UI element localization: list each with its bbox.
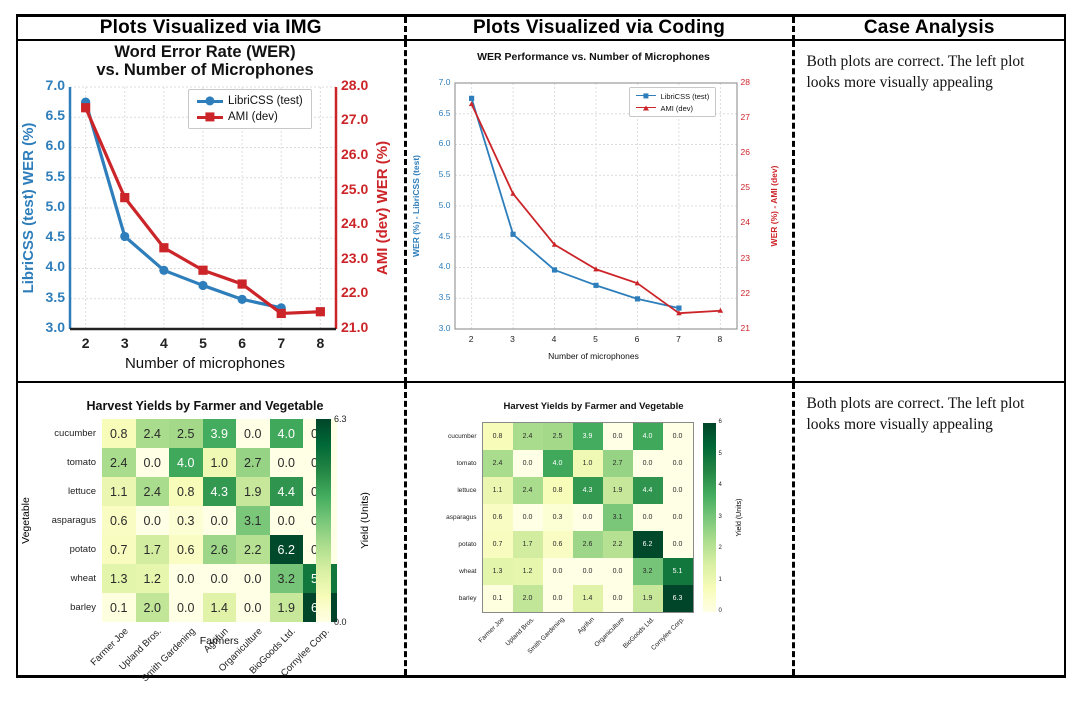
heatmap-cell: 2.2 xyxy=(603,531,633,558)
heatmap-cell: 0.0 xyxy=(573,558,603,585)
column-header-coding: Plots Visualized via Coding xyxy=(405,16,793,41)
heatmap-cell: 4.3 xyxy=(573,477,603,504)
heatmap-cell: 0.1 xyxy=(102,593,136,622)
heatmap-cell: 0.0 xyxy=(203,564,237,593)
legend-label: LibriCSS (test) xyxy=(661,92,710,101)
y-axis-label-right: WER (%) - AMI (dev) xyxy=(769,83,779,329)
y-tick-label-right: 26.0 xyxy=(341,146,368,162)
heatmap-y-axis-label: Vegetable xyxy=(20,419,32,622)
heatmap-cell: 6.2 xyxy=(270,535,304,564)
harvest-heatmap-coding: Harvest Yields by Farmer and Vegetable0.… xyxy=(407,383,781,675)
heatmap-cell: 1.9 xyxy=(633,585,663,612)
cell-analysis-2: Both plots are correct. The left plot lo… xyxy=(793,382,1065,677)
x-tick-label: 3 xyxy=(118,335,132,351)
chart-title-line1: Word Error Rate (WER) xyxy=(114,43,295,61)
heatmap-cell: 1.1 xyxy=(483,477,513,504)
table-row: Harvest Yields by Farmer and Vegetable0.… xyxy=(17,382,1065,677)
heatmap-cell: 0.1 xyxy=(483,585,513,612)
heatmap-cell: 6.3 xyxy=(663,585,693,612)
heatmap-cell: 1.0 xyxy=(573,450,603,477)
heatmap-cell: 1.1 xyxy=(102,477,136,506)
x-tick-label: 8 xyxy=(313,335,327,351)
cell-img-heatmap: Harvest Yields by Farmer and Vegetable0.… xyxy=(17,382,405,677)
heatmap-cell: 0.0 xyxy=(236,419,270,448)
chart-legend[interactable]: LibriCSS (test)AMI (dev) xyxy=(629,87,717,117)
heatmap-cell: 0.0 xyxy=(513,504,543,531)
analysis-text-1: Both plots are correct. The left plot lo… xyxy=(795,41,1065,104)
colorbar-tick: 6 xyxy=(719,419,722,425)
heatmap-title: Harvest Yields by Farmer and Vegetable xyxy=(407,401,781,412)
heatmap-cell: 0.0 xyxy=(573,504,603,531)
y-axis-label-right: AMI (dev) WER (%) xyxy=(374,87,391,329)
heatmap-cell: 2.0 xyxy=(513,585,543,612)
heatmap-cell: 0.0 xyxy=(603,558,633,585)
colorbar-tick: 3 xyxy=(719,514,722,520)
x-tick-label: 6 xyxy=(630,334,644,344)
heatmap-cell: 0.3 xyxy=(543,504,573,531)
heatmap-cell: 3.2 xyxy=(633,558,663,585)
heatmap-cell: 0.6 xyxy=(543,531,573,558)
colorbar-label: Yield (Units) xyxy=(359,419,371,622)
heatmap-cell: 0.0 xyxy=(169,593,203,622)
heatmap-cell: 4.0 xyxy=(543,450,573,477)
y-tick-label-right: 22.0 xyxy=(341,284,368,300)
heatmap-cell: 1.9 xyxy=(603,477,633,504)
legend-swatch xyxy=(636,103,656,113)
heatmap-cell: 6.2 xyxy=(633,531,663,558)
heatmap-cell: 2.4 xyxy=(136,419,170,448)
legend-marker xyxy=(205,112,214,121)
colorbar-tick: 4 xyxy=(719,482,722,488)
heatmap-cell: 2.5 xyxy=(169,419,203,448)
heatmap-cell: 0.0 xyxy=(136,506,170,535)
heatmap-cell: 0.0 xyxy=(603,423,633,450)
cell-coding-line-chart: 23456783.03.54.04.55.05.56.06.57.0212223… xyxy=(405,40,793,382)
heatmap-cell: 0.0 xyxy=(663,504,693,531)
heatmap-cell: 0.8 xyxy=(102,419,136,448)
y-tick-label-right: 23 xyxy=(741,253,750,263)
heatmap-cell: 2.4 xyxy=(102,448,136,477)
table-row: 23456783.03.54.04.55.05.56.06.57.021.022… xyxy=(17,40,1065,382)
wer-chart-img: 23456783.03.54.04.55.05.56.06.57.021.022… xyxy=(18,41,392,381)
heatmap-cell: 0.7 xyxy=(483,531,513,558)
heatmap-cell: 4.0 xyxy=(169,448,203,477)
heatmap-cell: 0.0 xyxy=(633,450,663,477)
legend-swatch xyxy=(197,112,223,122)
heatmap-row-label: cucumber xyxy=(407,423,483,450)
heatmap-cell: 1.0 xyxy=(203,448,237,477)
colorbar-tick: 2 xyxy=(719,545,722,551)
colorbar xyxy=(703,423,716,612)
harvest-heatmap-img: Harvest Yields by Farmer and Vegetable0.… xyxy=(18,383,392,675)
heatmap-row-label: tomato xyxy=(407,450,483,477)
x-tick-label: 7 xyxy=(671,334,685,344)
heatmap-cell: 0.0 xyxy=(270,448,304,477)
heatmap-row-label: potato xyxy=(407,531,483,558)
colorbar xyxy=(316,419,331,622)
y-tick-label-right: 23.0 xyxy=(341,250,368,266)
heatmap-cell: 0.0 xyxy=(513,450,543,477)
heatmap-cell: 2.6 xyxy=(203,535,237,564)
heatmap-row-label: asparagus xyxy=(407,504,483,531)
heatmap-cell: 2.6 xyxy=(573,531,603,558)
heatmap-cell: 0.0 xyxy=(543,585,573,612)
heatmap-cell: 0.0 xyxy=(136,448,170,477)
heatmap-cell: 4.0 xyxy=(270,419,304,448)
y-tick-label-right: 27 xyxy=(741,112,750,122)
heatmap-cell: 3.1 xyxy=(236,506,270,535)
heatmap-cell: 0.0 xyxy=(236,593,270,622)
heatmap-cell: 1.2 xyxy=(136,564,170,593)
legend-swatch xyxy=(636,91,656,101)
heatmap-cell: 0.3 xyxy=(169,506,203,535)
chart-legend[interactable]: LibriCSS (test)AMI (dev) xyxy=(188,89,312,129)
heatmap-cell: 0.0 xyxy=(663,477,693,504)
heatmap-cell: 1.9 xyxy=(236,477,270,506)
y-axis-label-left: WER (%) - LibriCSS (test) xyxy=(411,83,421,329)
heatmap-cell: 0.0 xyxy=(270,506,304,535)
legend-marker xyxy=(643,93,648,98)
y-tick-label-right: 22 xyxy=(741,288,750,298)
heatmap-cell: 4.4 xyxy=(270,477,304,506)
heatmap-row-label: barley xyxy=(407,585,483,612)
heatmap-cell: 0.0 xyxy=(603,585,633,612)
legend-marker xyxy=(205,96,214,105)
heatmap-cell: 3.2 xyxy=(270,564,304,593)
heatmap-cell: 2.7 xyxy=(603,450,633,477)
y-axis-label-left: LibriCSS (test) WER (%) xyxy=(20,87,37,329)
legend-swatch xyxy=(197,96,223,106)
y-tick-label-right: 24 xyxy=(741,217,750,227)
colorbar-tick: 6.3 xyxy=(334,414,347,424)
heatmap-cell: 0.6 xyxy=(483,504,513,531)
heatmap-cell: 0.0 xyxy=(169,564,203,593)
heatmap-cell: 2.4 xyxy=(136,477,170,506)
y-tick-label-right: 26 xyxy=(741,147,750,157)
colorbar-tick: 1 xyxy=(719,577,722,583)
comparison-table: Plots Visualized via IMG Plots Visualize… xyxy=(16,14,1066,678)
legend-label: AMI (dev) xyxy=(228,111,278,123)
heatmap-cell: 0.0 xyxy=(633,504,663,531)
colorbar-label: Yield (Units) xyxy=(736,423,743,612)
column-header-img: Plots Visualized via IMG xyxy=(17,16,405,41)
heatmap-grid: 0.82.42.53.90.04.00.02.40.04.01.02.70.00… xyxy=(102,419,337,622)
heatmap-cell: 2.7 xyxy=(236,448,270,477)
analysis-text-2: Both plots are correct. The left plot lo… xyxy=(795,383,1065,446)
y-tick-label-right: 27.0 xyxy=(341,111,368,127)
table-header-row: Plots Visualized via IMG Plots Visualize… xyxy=(17,16,1065,41)
heatmap-cell: 0.7 xyxy=(102,535,136,564)
heatmap-cell: 3.1 xyxy=(603,504,633,531)
heatmap-title: Harvest Yields by Farmer and Vegetable xyxy=(18,399,392,413)
wer-chart-coding: 23456783.03.54.04.55.05.56.06.57.0212223… xyxy=(407,41,781,381)
cell-analysis-1: Both plots are correct. The left plot lo… xyxy=(793,40,1065,382)
heatmap-cell: 5.1 xyxy=(663,558,693,585)
heatmap-cell: 2.5 xyxy=(543,423,573,450)
y-tick-label-right: 28 xyxy=(741,77,750,87)
heatmap-cell: 0.6 xyxy=(169,535,203,564)
heatmap-cell: 4.3 xyxy=(203,477,237,506)
x-axis-label: Number of microphones xyxy=(18,355,392,372)
y-tick-label-right: 21.0 xyxy=(341,319,368,335)
heatmap-cell: 3.9 xyxy=(573,423,603,450)
chart-title: Word Error Rate (WER)vs. Number of Micro… xyxy=(18,43,392,80)
x-tick-label: 7 xyxy=(274,335,288,351)
heatmap-cell: 4.0 xyxy=(633,423,663,450)
chart-title: WER Performance vs. Number of Microphone… xyxy=(407,51,781,63)
heatmap-cell: 1.4 xyxy=(203,593,237,622)
legend-item[interactable]: LibriCSS (test) xyxy=(636,91,710,101)
plot-canvas xyxy=(407,41,781,381)
cell-img-line-chart: 23456783.03.54.04.55.05.56.06.57.021.022… xyxy=(17,40,405,382)
legend-item[interactable]: AMI (dev) xyxy=(197,111,303,123)
colorbar-tick: 5 xyxy=(719,451,722,457)
heatmap-cell: 2.0 xyxy=(136,593,170,622)
heatmap-cell: 1.3 xyxy=(102,564,136,593)
x-axis-label: Number of microphones xyxy=(407,351,781,361)
heatmap-cell: 1.7 xyxy=(513,531,543,558)
heatmap-cell: 1.3 xyxy=(483,558,513,585)
heatmap-cell: 0.8 xyxy=(483,423,513,450)
colorbar-tick: 0.0 xyxy=(334,617,347,627)
x-tick-label: 6 xyxy=(235,335,249,351)
colorbar-tick: 0 xyxy=(719,608,722,614)
legend-marker xyxy=(643,106,649,111)
heatmap-x-axis-label: Farmers xyxy=(102,635,337,647)
y-tick-label-right: 21 xyxy=(741,323,750,333)
legend-item[interactable]: LibriCSS (test) xyxy=(197,95,303,107)
heatmap-cell: 0.0 xyxy=(236,564,270,593)
y-tick-label-right: 24.0 xyxy=(341,215,368,231)
heatmap-cell: 1.2 xyxy=(513,558,543,585)
heatmap-cell: 1.4 xyxy=(573,585,603,612)
x-tick-label: 5 xyxy=(196,335,210,351)
legend-label: AMI (dev) xyxy=(661,104,694,113)
heatmap-cell: 0.0 xyxy=(203,506,237,535)
heatmap-column-label: Cornylee Corp. xyxy=(616,616,686,686)
chart-title-line2: vs. Number of Microphones xyxy=(96,61,313,79)
comparison-table-page: Plots Visualized via IMG Plots Visualize… xyxy=(0,0,1080,728)
x-tick-label: 5 xyxy=(589,334,603,344)
heatmap-grid: 0.82.42.53.90.04.00.02.40.04.01.02.70.00… xyxy=(483,423,693,612)
legend-label: LibriCSS (test) xyxy=(228,95,303,107)
heatmap-cell: 0.0 xyxy=(543,558,573,585)
heatmap-cell: 2.4 xyxy=(483,450,513,477)
heatmap-cell: 1.9 xyxy=(270,593,304,622)
y-tick-label-right: 25 xyxy=(741,182,750,192)
heatmap-cell: 0.8 xyxy=(543,477,573,504)
heatmap-cell: 0.0 xyxy=(663,423,693,450)
heatmap-cell: 4.4 xyxy=(633,477,663,504)
x-tick-label: 2 xyxy=(464,334,478,344)
heatmap-cell: 0.6 xyxy=(102,506,136,535)
heatmap-row-label: wheat xyxy=(407,558,483,585)
heatmap-cell: 2.4 xyxy=(513,477,543,504)
x-tick-label: 3 xyxy=(506,334,520,344)
heatmap-cell: 0.0 xyxy=(663,450,693,477)
heatmap-cell: 0.0 xyxy=(663,531,693,558)
x-tick-label: 2 xyxy=(79,335,93,351)
x-tick-label: 8 xyxy=(713,334,727,344)
heatmap-cell: 1.7 xyxy=(136,535,170,564)
heatmap-cell: 0.8 xyxy=(169,477,203,506)
cell-coding-heatmap: Harvest Yields by Farmer and Vegetable0.… xyxy=(405,382,793,677)
heatmap-cell: 2.4 xyxy=(513,423,543,450)
x-tick-label: 4 xyxy=(157,335,171,351)
heatmap-cell: 3.9 xyxy=(203,419,237,448)
y-tick-label-right: 25.0 xyxy=(341,181,368,197)
x-tick-label: 4 xyxy=(547,334,561,344)
heatmap-row-label: lettuce xyxy=(407,477,483,504)
series-markers xyxy=(81,98,286,313)
column-header-analysis: Case Analysis xyxy=(793,16,1065,41)
heatmap-cell: 2.2 xyxy=(236,535,270,564)
legend-item[interactable]: AMI (dev) xyxy=(636,103,710,113)
